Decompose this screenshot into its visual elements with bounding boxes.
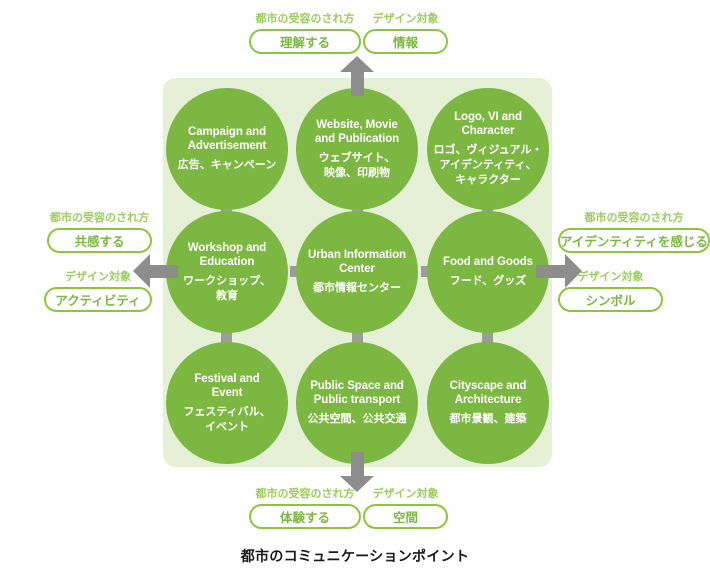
arrow-up-icon <box>340 56 375 96</box>
axis-left-design-pill[interactable]: アクティビティ <box>44 287 152 312</box>
axis-right-design-pill[interactable]: シンボル <box>558 287 663 312</box>
node-label-jp: ウェブサイト、 映像、印刷物 <box>319 151 396 181</box>
node-label-en: Food and Goods <box>443 255 533 269</box>
node-label-en: Website, Movie and Publication <box>315 118 399 146</box>
node-festival-and-event[interactable]: Festival and Event フェスティバル、 イベント <box>166 342 288 464</box>
axis-right-reception-label: 都市の受容のされ方 <box>558 213 710 224</box>
axis-top-reception-label: 都市の受容のされ方 <box>249 14 361 25</box>
node-label-en: Festival and Event <box>194 372 259 400</box>
axis-left-reception-label: 都市の受容のされ方 <box>47 213 152 224</box>
node-cityscape-and-architecture[interactable]: Cityscape and Architecture 都市景観、建築 <box>427 342 549 464</box>
axis-bottom-reception-label: 都市の受容のされ方 <box>249 489 361 500</box>
axis-bottom-design: デザイン対象 空間 <box>363 489 448 529</box>
node-label-jp: 公共空間、公共交通 <box>308 412 407 427</box>
axis-bottom-design-pill[interactable]: 空間 <box>363 504 448 529</box>
node-label-jp: 広告、キャンペーン <box>178 158 276 173</box>
node-campaign-and-advertisement[interactable]: Campaign and Advertisement 広告、キャンペーン <box>166 88 288 210</box>
node-urban-information-center[interactable]: Urban Information Center 都市情報センター <box>296 211 418 333</box>
axis-top-reception-pill[interactable]: 理解する <box>249 29 361 54</box>
arrow-down-icon <box>340 452 375 492</box>
node-label-jp: ロゴ、ヴィジュアル・ アイデンティティ、 キャラクター <box>434 143 543 188</box>
axis-left-design: デザイン対象 アクティビティ <box>44 272 152 312</box>
node-label-jp: 都市情報センター <box>313 281 401 296</box>
axis-left-reception: 都市の受容のされ方 共感する <box>47 213 152 253</box>
node-label-en: Logo, VI and Character <box>454 110 522 138</box>
node-label-en: Workshop and Education <box>188 241 266 269</box>
node-workshop-and-education[interactable]: Workshop and Education ワークショップ、 教育 <box>166 211 288 333</box>
node-label-en: Public Space and Public transport <box>310 379 404 407</box>
node-label-jp: ワークショップ、 教育 <box>183 274 271 304</box>
axis-right-reception: 都市の受容のされ方 アイデンティティを感じる <box>558 213 710 253</box>
node-label-jp: フード、グッズ <box>450 274 527 289</box>
node-website-movie-and-publication[interactable]: Website, Movie and Publication ウェブサイト、 映… <box>296 88 418 210</box>
axis-bottom-reception: 都市の受容のされ方 体験する <box>249 489 361 529</box>
axis-top-reception: 都市の受容のされ方 理解する <box>249 14 361 54</box>
node-label-en: Urban Information Center <box>308 248 406 276</box>
axis-left-reception-pill[interactable]: 共感する <box>47 228 152 253</box>
axis-top-design-label: デザイン対象 <box>363 14 448 25</box>
node-label-jp: 都市景観、建築 <box>450 412 527 427</box>
node-label-jp: フェスティバル、 イベント <box>183 405 270 435</box>
axis-bottom-design-label: デザイン対象 <box>363 489 448 500</box>
node-label-en: Campaign and Advertisement <box>188 125 267 153</box>
diagram-canvas: Campaign and Advertisement 広告、キャンペーン Web… <box>0 0 710 580</box>
axis-right-design: デザイン対象 シンボル <box>558 272 663 312</box>
axis-left-design-label: デザイン対象 <box>44 272 152 283</box>
axis-right-design-label: デザイン対象 <box>558 272 663 283</box>
node-logo-vi-and-character[interactable]: Logo, VI and Character ロゴ、ヴィジュアル・ アイデンティ… <box>427 88 549 210</box>
axis-top-design: デザイン対象 情報 <box>363 14 448 54</box>
node-food-and-goods[interactable]: Food and Goods フード、グッズ <box>427 211 549 333</box>
axis-bottom-reception-pill[interactable]: 体験する <box>249 504 361 529</box>
node-public-space-and-public-transport[interactable]: Public Space and Public transport 公共空間、公… <box>296 342 418 464</box>
axis-right-reception-pill[interactable]: アイデンティティを感じる <box>558 228 710 253</box>
node-label-en: Cityscape and Architecture <box>450 379 527 407</box>
figure-caption: 都市のコミュニケーションポイント <box>0 546 710 566</box>
axis-top-design-pill[interactable]: 情報 <box>363 29 448 54</box>
